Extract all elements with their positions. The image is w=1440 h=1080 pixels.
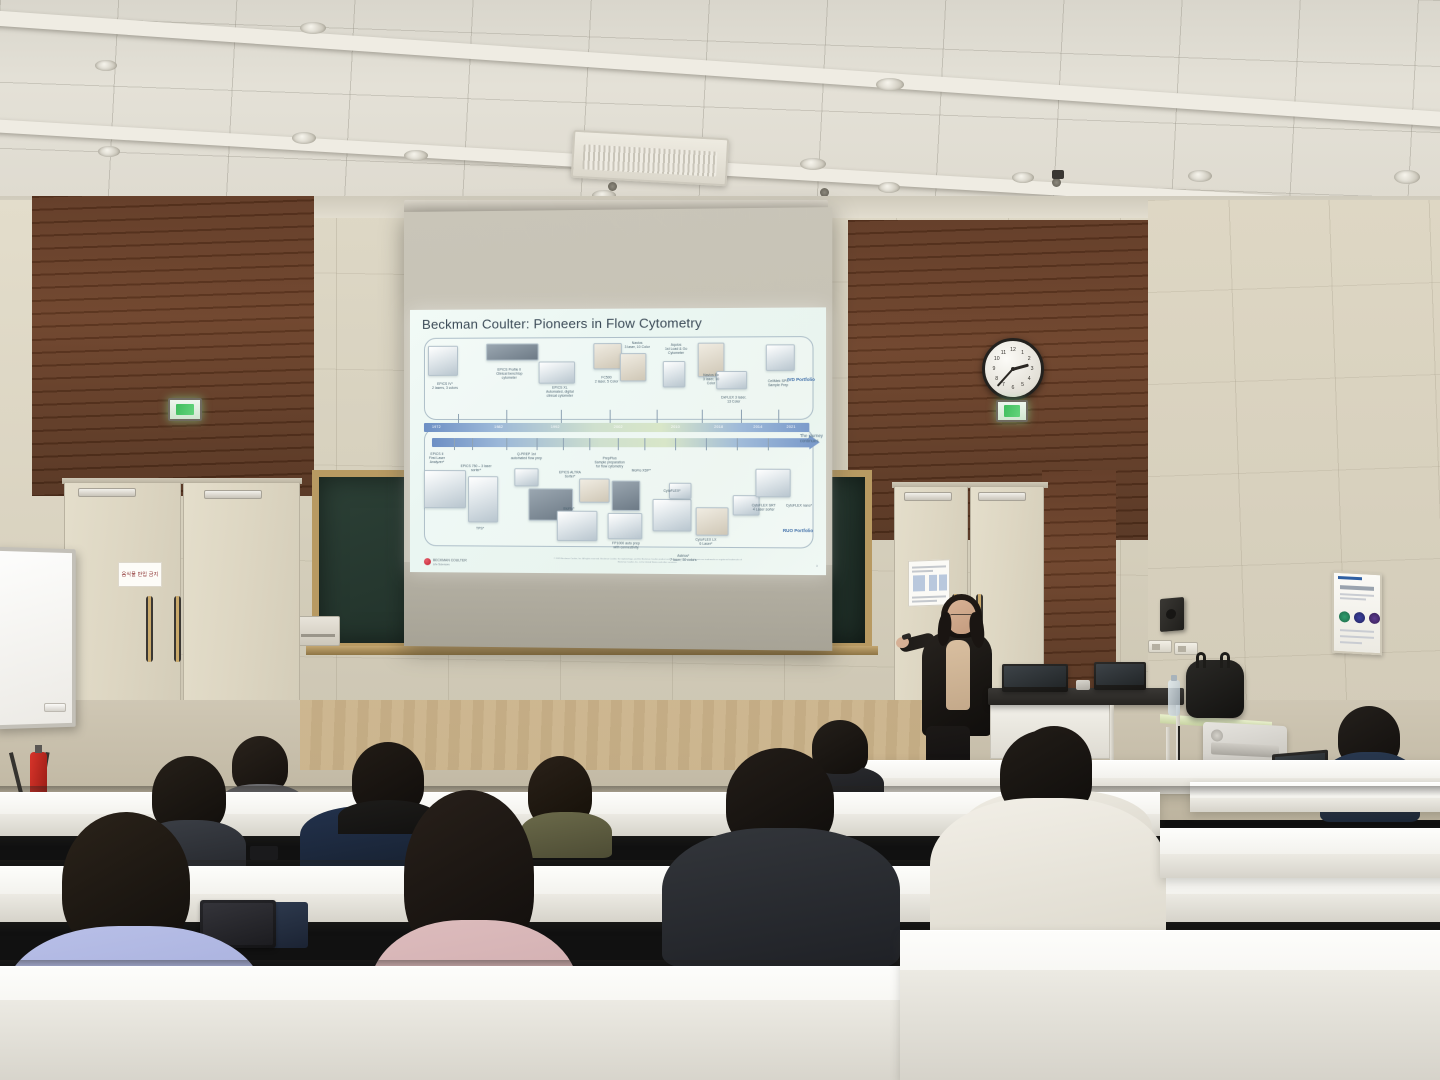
downlight-icon <box>876 78 904 91</box>
ceiling-ac-cassette <box>571 130 729 187</box>
timeline-year: 2010 <box>671 424 680 428</box>
device-label: FC500 2 laser, 5 Color <box>589 375 624 383</box>
clock-numeral: 10 <box>994 356 1000 362</box>
exit-running-man-icon <box>1004 405 1021 416</box>
device-image <box>608 513 643 539</box>
slide-fineprint: © 2023 Beckman Coulter, Inc. All rights … <box>551 558 745 566</box>
device-label: CytoFLEX LX 6 Laser* <box>689 538 722 547</box>
timeline-tick <box>741 410 742 423</box>
timeline-year: 1972 <box>432 424 441 428</box>
beckman-coulter-logo: BECKMAN COULTER Life Sciences <box>424 558 467 566</box>
wood-wall-panel-left <box>32 196 314 496</box>
device-label: EPICS Profile II Clinical benchtop cytom… <box>484 368 534 381</box>
device-label: Navios 3 laser, 10 Color <box>618 341 657 349</box>
printer-knob[interactable] <box>1211 729 1223 742</box>
device-image <box>653 499 692 532</box>
monitor-right[interactable] <box>1094 662 1146 690</box>
presenter-glasses-icon <box>950 614 972 620</box>
device-label: PrepPlus Sample preparation for flow cyt… <box>589 456 630 469</box>
timeline-tick <box>618 438 619 450</box>
door-closer <box>904 492 952 501</box>
desk-front-panel <box>1160 854 1440 878</box>
clock-numeral: 3 <box>1031 366 1034 372</box>
slide-title: Beckman Coulter: Pioneers in Flow Cytome… <box>422 315 702 332</box>
device-label: Navios Ex 3 laser, 10 Color <box>696 373 727 386</box>
device-image <box>539 361 575 383</box>
device-image <box>428 346 458 376</box>
timeline-axis-bottom <box>432 438 811 447</box>
device-image <box>663 361 686 387</box>
door-closer <box>204 490 262 499</box>
device-image <box>486 343 538 360</box>
device-label: CytoFLEX* <box>659 489 686 493</box>
brand-mark-icon <box>424 559 431 566</box>
clock-numeral: 7 <box>1002 382 1005 388</box>
poster-line <box>1340 629 1374 632</box>
poster-line <box>912 570 933 572</box>
device-label: BioFlo* <box>557 507 581 511</box>
timeline-tick <box>702 410 703 423</box>
timeline-tick <box>737 438 738 450</box>
poster-block <box>929 575 937 591</box>
clock-numeral: 2 <box>1028 356 1031 362</box>
door-wall-poster <box>908 559 950 606</box>
whiteboard-eraser[interactable] <box>44 703 66 712</box>
device-image <box>514 468 538 486</box>
poster-swatch-green <box>1339 611 1350 623</box>
poster-line <box>1340 641 1362 644</box>
backpack-strap <box>1220 652 1230 668</box>
backpack-strap <box>1196 652 1206 668</box>
timeline-year: 1992 <box>551 424 560 428</box>
poster-line <box>912 600 937 602</box>
timeline-tick <box>644 438 645 450</box>
device-label: Aquios 1st Load & Go Cytometer <box>659 343 694 356</box>
timeline-tick <box>506 410 507 423</box>
timeline-year: 2002 <box>614 424 623 428</box>
clock-numeral: 9 <box>993 366 996 372</box>
screen-lower-band <box>404 562 832 651</box>
device-image <box>424 470 466 508</box>
device-label: EPICS 750 – 3 laser sorter* <box>454 464 498 472</box>
device-image <box>557 511 598 541</box>
slide-page-number: 3 <box>816 564 818 568</box>
monitor-left[interactable] <box>1002 664 1068 692</box>
downlight-icon <box>1012 172 1034 183</box>
board-control-box[interactable] <box>296 616 340 646</box>
clock-numeral: 4 <box>1028 376 1031 382</box>
exit-sign-icon <box>168 398 202 421</box>
device-label: Q-PREP 1st automated flow prep <box>506 452 546 460</box>
device-label: EPICS ALTRA Sorter* <box>553 470 588 478</box>
downlight-icon <box>878 182 900 193</box>
timeline-tick <box>657 410 658 423</box>
projection-screen: Beckman Coulter: Pioneers in Flow Cytome… <box>404 207 832 651</box>
downlight-icon <box>292 132 316 144</box>
poster-swatch-blue <box>1354 612 1365 624</box>
door-handle[interactable] <box>146 596 153 662</box>
clock-numeral: 1 <box>1021 350 1024 356</box>
student-torso <box>520 812 612 858</box>
device-label: EPICS II First Laser Analyzer* <box>420 452 454 464</box>
device-image <box>468 476 498 522</box>
poster-header-bar <box>1338 576 1362 580</box>
lecture-hall-scene: 음식물 반입 금지 12 1 2 3 4 5 6 7 8 9 10 11 <box>0 0 1440 1080</box>
downlight-icon <box>300 22 326 34</box>
desk-device <box>1076 680 1090 690</box>
device-image <box>696 507 729 536</box>
sprinkler-icon <box>1052 178 1061 187</box>
clock-numeral: 6 <box>1012 385 1015 391</box>
poster-line <box>1340 635 1374 638</box>
downlight-icon <box>404 150 428 161</box>
device-label: CytoFLEX nano* <box>782 503 815 507</box>
desk-row-right-upper <box>1160 828 1440 878</box>
poster-line <box>912 595 946 598</box>
ivd-portfolio-label: IVD Portfolio <box>787 377 816 383</box>
device-image <box>612 481 641 511</box>
timeline-tick <box>537 438 538 450</box>
student-torso <box>930 798 1166 950</box>
downlight-icon <box>95 60 117 71</box>
downlight-icon <box>98 146 120 157</box>
poster-block <box>913 575 925 591</box>
wall-outlet-icon <box>1148 640 1172 653</box>
door-closer <box>978 492 1026 501</box>
device-label: EPICS IV* 2 lasers, 3 colors <box>422 382 468 390</box>
timeline-tick <box>472 438 473 450</box>
clock-numeral: 5 <box>1021 382 1024 388</box>
downlight-icon <box>1188 170 1212 182</box>
poster-line <box>1340 597 1366 600</box>
student-torso <box>662 828 900 968</box>
presenter-inner-top <box>946 640 970 710</box>
exit-sign-icon <box>996 400 1028 422</box>
poster-line <box>1340 593 1374 596</box>
exit-running-man-icon <box>176 404 194 416</box>
desk-front-panel <box>900 970 1440 1080</box>
wall-speaker-icon <box>1160 597 1184 632</box>
poster-block <box>939 574 947 590</box>
timeline-tick <box>778 410 779 423</box>
sprinkler-icon <box>608 182 617 191</box>
ceiling-speaker-icon <box>1052 170 1064 179</box>
ac-grille <box>582 144 717 176</box>
device-image <box>579 478 610 502</box>
phone[interactable] <box>250 846 278 860</box>
device-label: MoFlo XDP* <box>626 468 657 472</box>
mobile-whiteboard[interactable] <box>0 547 76 730</box>
device-label: DxFLEX 3 laser, 13 Color <box>712 395 755 403</box>
device-label: TPS* <box>468 526 492 530</box>
timeline-year: 1982 <box>494 424 503 428</box>
table-leg <box>1110 705 1114 763</box>
downlight-icon <box>1394 170 1420 184</box>
timeline-year: 2018 <box>714 424 723 428</box>
clock-center-pin <box>1011 367 1015 371</box>
clock-numeral: 12 <box>1010 347 1016 353</box>
clock-numeral: 8 <box>995 376 998 382</box>
desk-front-panel <box>1190 798 1440 812</box>
timeline-tick <box>706 438 707 450</box>
timeline-tick <box>675 438 676 450</box>
wall-clock: 12 1 2 3 4 5 6 7 8 9 10 11 <box>982 338 1044 400</box>
device-label: FP1000 auto prep with connectivity <box>604 541 649 550</box>
clock-hour-hand <box>1013 364 1029 371</box>
timeline-tick <box>589 438 590 450</box>
brand-tagline: Life Sciences <box>433 562 467 566</box>
door-notice-sign: 음식물 반입 금지 <box>118 562 162 587</box>
device-label: EPICS XL Automated, digital clinical cyt… <box>537 386 584 399</box>
wall-outlet-icon <box>1174 642 1198 655</box>
journey-continues-note: The journey continues <box>800 433 823 444</box>
clock-minute-hand <box>997 368 1014 386</box>
timeline-tick <box>561 410 562 423</box>
poster-swatch-purple <box>1369 613 1380 625</box>
device-image <box>755 469 790 498</box>
ceiling <box>0 0 1440 215</box>
presentation-slide: Beckman Coulter: Pioneers in Flow Cytome… <box>410 307 826 575</box>
timeline-tick <box>768 438 769 450</box>
door-closer <box>78 488 136 497</box>
device-image <box>766 344 795 371</box>
device-label: CytoFLEX SRT 4 Laser sorter <box>745 503 782 512</box>
timeline-tick <box>454 438 455 450</box>
timeline-tick <box>506 438 507 450</box>
water-bottle <box>1168 680 1180 716</box>
timeline-year: 2021 <box>787 424 796 428</box>
timeline-tick <box>458 414 459 423</box>
downlight-icon <box>800 158 826 170</box>
wall-notice-poster <box>1332 571 1382 656</box>
timeline-year: 2014 <box>753 424 762 428</box>
door-handle[interactable] <box>174 596 181 662</box>
timeline-tick <box>563 438 564 450</box>
ruo-portfolio-label: RUO Portfolio <box>782 528 813 534</box>
desk-row-1-right <box>900 930 1440 1080</box>
timeline-tick <box>610 410 611 423</box>
poster-line <box>912 565 946 568</box>
backpack <box>1186 660 1244 718</box>
poster-title-bar <box>1340 585 1374 591</box>
clock-numeral: 11 <box>1001 350 1006 356</box>
